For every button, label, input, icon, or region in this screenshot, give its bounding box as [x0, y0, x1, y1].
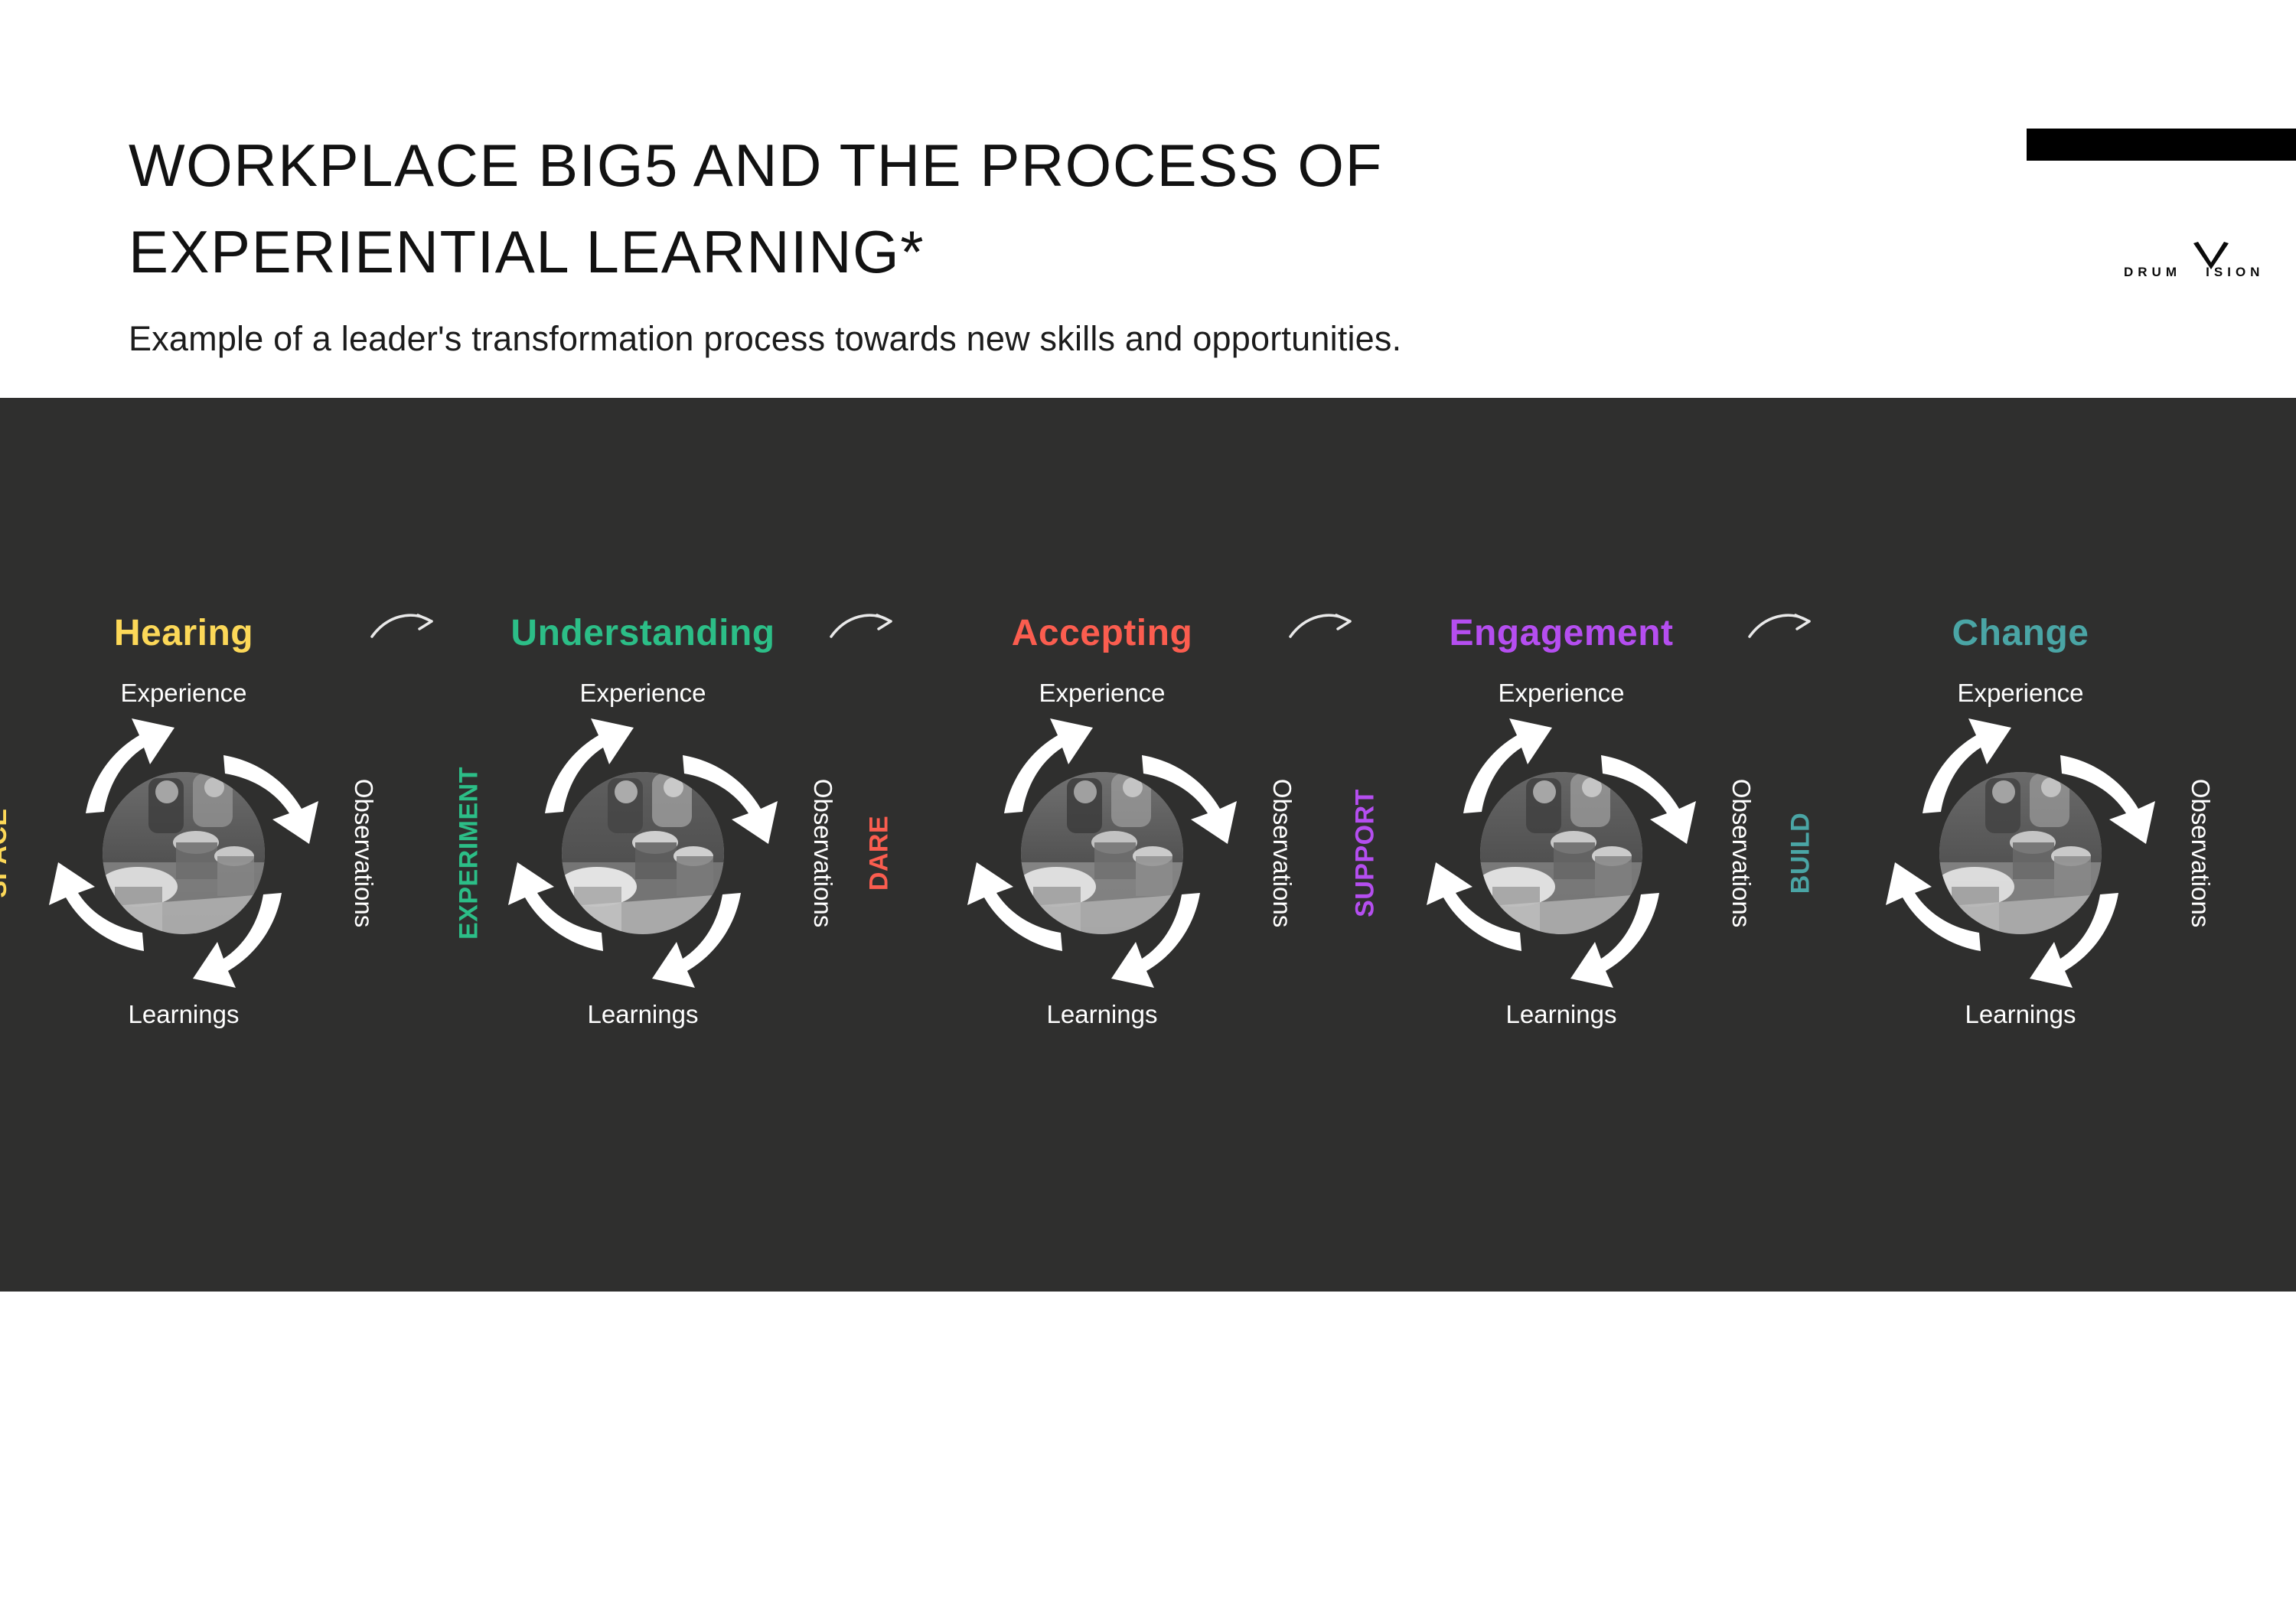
- stage-change[interactable]: Change: [1806, 612, 2235, 1041]
- stage-connector-arrow-icon: [827, 603, 895, 649]
- stage-title: Engagement: [1347, 612, 1776, 654]
- cycle-label-learnings: Learnings: [1393, 1000, 1730, 1029]
- drumvision-logo: DRUM ISION: [2124, 245, 2277, 291]
- stage-engagement[interactable]: Engagement: [1347, 612, 1776, 1041]
- page-title: WORKPLACE BIG5 AND THE PROCESS OF EXPERI…: [129, 122, 1583, 295]
- stage-photo: [1480, 772, 1642, 934]
- slide-header: WORKPLACE BIG5 AND THE PROCESS OF EXPERI…: [0, 0, 2296, 398]
- stage-side-label: SUPPORT: [1350, 789, 1380, 917]
- cycle-label-observations: Observations: [349, 779, 378, 927]
- cycle-label-observations: Observations: [1727, 779, 1756, 927]
- stage-side-label: EXPERIMENT: [455, 767, 484, 940]
- cycle-label-learnings: Learnings: [934, 1000, 1270, 1029]
- learning-cycle: ExperienceObservationsLearningsSUPPORT: [1393, 685, 1730, 1021]
- title-line-1: WORKPLACE BIG5 AND THE PROCESS OF: [129, 122, 1583, 209]
- learning-cycle: ExperienceObservationsLearningsEXPERIMEN…: [475, 685, 811, 1021]
- stage-connector-arrow-icon: [367, 603, 436, 649]
- cycle-label-experience: Experience: [1393, 679, 1730, 708]
- logo-v-icon: [2191, 240, 2231, 272]
- cycle-label-experience: Experience: [934, 679, 1270, 708]
- stage-connector-arrow-icon: [1745, 603, 1814, 649]
- title-line-2: EXPERIENTIAL LEARNING*: [129, 209, 1583, 295]
- stage-understanding[interactable]: Understanding: [429, 612, 857, 1041]
- learning-cycle: ExperienceObservationsLearningsFEEL THES…: [15, 685, 352, 1021]
- cycle-label-observations: Observations: [808, 779, 837, 927]
- stage-photo: [103, 772, 265, 934]
- stage-photo: [1939, 772, 2102, 934]
- cycle-label-learnings: Learnings: [1852, 1000, 2189, 1029]
- diagram-panel: Hearing: [0, 398, 2296, 1292]
- stage-side-label: DARE: [865, 816, 895, 891]
- cycle-label-learnings: Learnings: [15, 1000, 352, 1029]
- stage-title: Change: [1806, 612, 2235, 654]
- learning-cycle: ExperienceObservationsLearningsBUILD: [1852, 685, 2189, 1021]
- stage-title: Hearing: [0, 612, 398, 654]
- stage-photo: [1021, 772, 1183, 934]
- stage-hearing[interactable]: Hearing: [0, 612, 398, 1041]
- stage-connector-arrow-icon: [1286, 603, 1355, 649]
- logo-text-left: DRUM: [2124, 265, 2181, 279]
- stage-side-label: FEEL THESPACE: [0, 789, 14, 917]
- footnote: *Based on Kolb's experiential learning a…: [99, 1582, 1017, 1606]
- accent-bar: [2027, 129, 2296, 161]
- stage-title: Accepting: [888, 612, 1316, 654]
- side-label-line-2: SPACE: [0, 789, 14, 917]
- cycle-label-experience: Experience: [475, 679, 811, 708]
- stage-side-label: BUILD: [1786, 813, 1816, 894]
- learning-cycle: ExperienceObservationsLearningsDARE: [934, 685, 1270, 1021]
- cycle-label-observations: Observations: [2186, 779, 2215, 927]
- cycle-label-experience: Experience: [1852, 679, 2189, 708]
- cycle-label-learnings: Learnings: [475, 1000, 811, 1029]
- stage-photo: [562, 772, 724, 934]
- stage-accepting[interactable]: Accepting: [888, 612, 1316, 1041]
- cycle-label-experience: Experience: [15, 679, 352, 708]
- stage-title: Understanding: [429, 612, 857, 654]
- page-subtitle: Example of a leader's transformation pro…: [129, 318, 1401, 360]
- cycle-label-observations: Observations: [1267, 779, 1296, 927]
